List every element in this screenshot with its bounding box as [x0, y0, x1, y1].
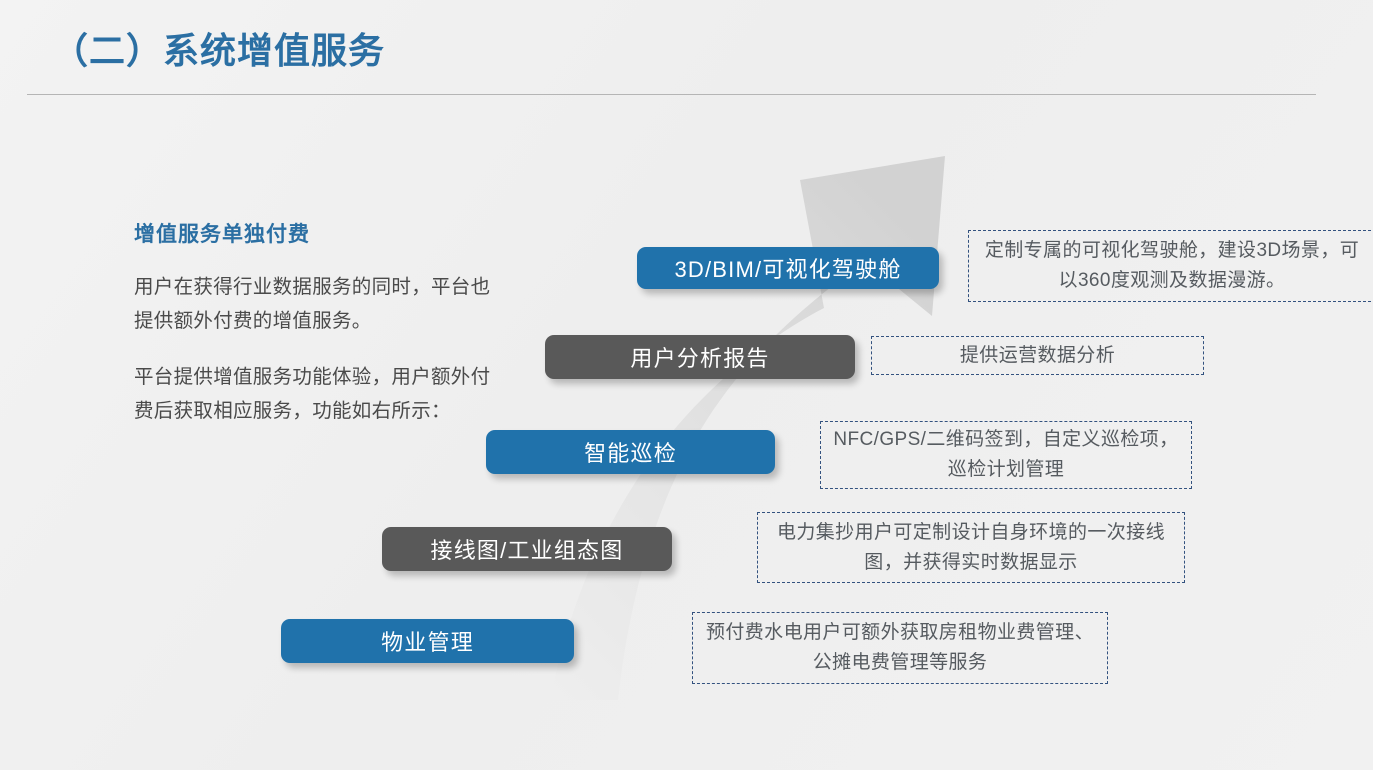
title-divider — [27, 94, 1316, 95]
pyramid-level-4-note-text: 电力集抄用户可定制设计自身环境的一次接线图，并获得实时数据显示 — [768, 518, 1174, 578]
pyramid-level-2-note-text: 提供运营数据分析 — [960, 341, 1115, 371]
pyramid-level-5-note-text: 预付费水电用户可额外获取房租物业费管理、公摊电费管理等服务 — [703, 618, 1097, 678]
pyramid-level-3-note-text: NFC/GPS/二维码签到，自定义巡检项，巡检计划管理 — [831, 425, 1181, 485]
pyramid-level-2-pill[interactable]: 用户分析报告 — [545, 335, 855, 379]
pyramid-level-5-note: 预付费水电用户可额外获取房租物业费管理、公摊电费管理等服务 — [692, 612, 1108, 684]
pyramid-level-5-pill[interactable]: 物业管理 — [281, 619, 574, 663]
pyramid-level-3-pill[interactable]: 智能巡检 — [486, 430, 775, 474]
left-text-column: 增值服务单独付费 用户在获得行业数据服务的同时，平台也提供额外付费的增值服务。 … — [134, 218, 500, 428]
pyramid-level-3-note: NFC/GPS/二维码签到，自定义巡检项，巡检计划管理 — [820, 421, 1192, 489]
pyramid-level-1-note: 定制专属的可视化驾驶舱，建设3D场景，可以360度观测及数据漫游。 — [968, 230, 1373, 302]
pyramid-level-1-pill[interactable]: 3D/BIM/可视化驾驶舱 — [637, 247, 939, 289]
pyramid-level-3-label: 智能巡检 — [584, 436, 677, 468]
left-column-paragraph-1: 用户在获得行业数据服务的同时，平台也提供额外付费的增值服务。 — [134, 270, 500, 338]
pyramid-level-2-note: 提供运营数据分析 — [871, 336, 1204, 375]
pyramid-level-4-label: 接线图/工业组态图 — [431, 533, 624, 565]
left-column-paragraph-2: 平台提供增值服务功能体验，用户额外付费后获取相应服务，功能如右所示： — [134, 360, 500, 428]
pyramid-level-1-note-text: 定制专属的可视化驾驶舱，建设3D场景，可以360度观测及数据漫游。 — [979, 236, 1365, 296]
pyramid-level-5-label: 物业管理 — [381, 625, 474, 657]
left-column-heading: 增值服务单独付费 — [134, 218, 500, 248]
pyramid-level-4-pill[interactable]: 接线图/工业组态图 — [382, 527, 672, 571]
page-title: （二）系统增值服务 — [52, 22, 385, 74]
pyramid-level-1-label: 3D/BIM/可视化驾驶舱 — [674, 252, 901, 284]
pyramid-level-2-label: 用户分析报告 — [630, 341, 769, 373]
pyramid-level-4-note: 电力集抄用户可定制设计自身环境的一次接线图，并获得实时数据显示 — [757, 512, 1185, 583]
slide-canvas: （二）系统增值服务 增值服务单独付费 用户在获得行业数据服务的同时，平台也提供额… — [0, 0, 1373, 770]
